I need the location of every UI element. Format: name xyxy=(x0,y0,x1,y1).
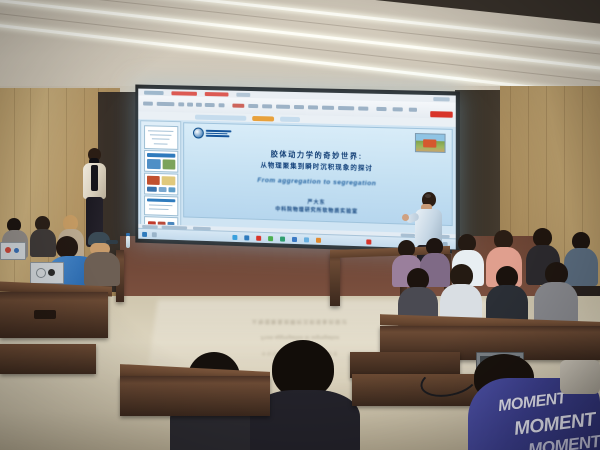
audience-member xyxy=(486,266,528,326)
taskbar-app-icon[interactable] xyxy=(244,235,249,240)
slide-photo xyxy=(415,133,446,153)
organization-logo xyxy=(193,127,231,139)
list-item[interactable] xyxy=(144,173,178,196)
audience-member xyxy=(534,262,578,326)
desk-vent xyxy=(34,310,56,319)
ceiling-dark-panel xyxy=(339,0,600,28)
search-icon[interactable] xyxy=(152,232,157,237)
list-item[interactable] xyxy=(144,195,178,216)
slide-thumbnail-pane[interactable] xyxy=(140,120,181,229)
start-icon[interactable] xyxy=(142,231,147,236)
speaker-hand xyxy=(402,214,409,221)
audience-head xyxy=(56,236,78,258)
taskbar-app-icon[interactable] xyxy=(292,236,297,241)
taskbar-app-icon[interactable] xyxy=(304,237,309,242)
ribbon-action-button[interactable] xyxy=(430,111,452,118)
taskbar-app-icon[interactable] xyxy=(268,236,273,241)
audience-body xyxy=(84,252,120,286)
water-bottle xyxy=(126,236,130,248)
slide-title-en: From aggregation to segregation xyxy=(184,175,452,190)
lecture-hall-photo: 胶体动力学的奇妙世界: 从物理聚集到瞬时沉积现象的探讨 From aggrega… xyxy=(0,0,600,450)
laptop[interactable] xyxy=(0,242,26,260)
logo-emblem-icon xyxy=(193,127,204,138)
taskbar-app-icon[interactable] xyxy=(316,237,321,242)
list-item[interactable] xyxy=(144,150,178,173)
taskbar-app-icon[interactable] xyxy=(232,234,237,239)
taskbar-app-icon[interactable] xyxy=(280,236,285,241)
host-inner-top xyxy=(91,165,98,191)
taskbar-app-icon[interactable] xyxy=(256,235,261,240)
ceiling xyxy=(0,0,600,96)
taskbar-app-icon[interactable] xyxy=(366,239,371,244)
desk-front-panel xyxy=(120,376,270,416)
audience-member-cap xyxy=(84,232,120,286)
list-item[interactable] xyxy=(144,125,178,150)
bag xyxy=(560,360,600,394)
laptop[interactable] xyxy=(30,262,64,284)
projection-screen: 胶体动力学的奇妙世界: 从物理聚集到瞬时沉积现象的探讨 From aggrega… xyxy=(138,89,456,250)
desk-side-panel xyxy=(330,252,340,306)
desk-front-panel xyxy=(0,344,96,374)
